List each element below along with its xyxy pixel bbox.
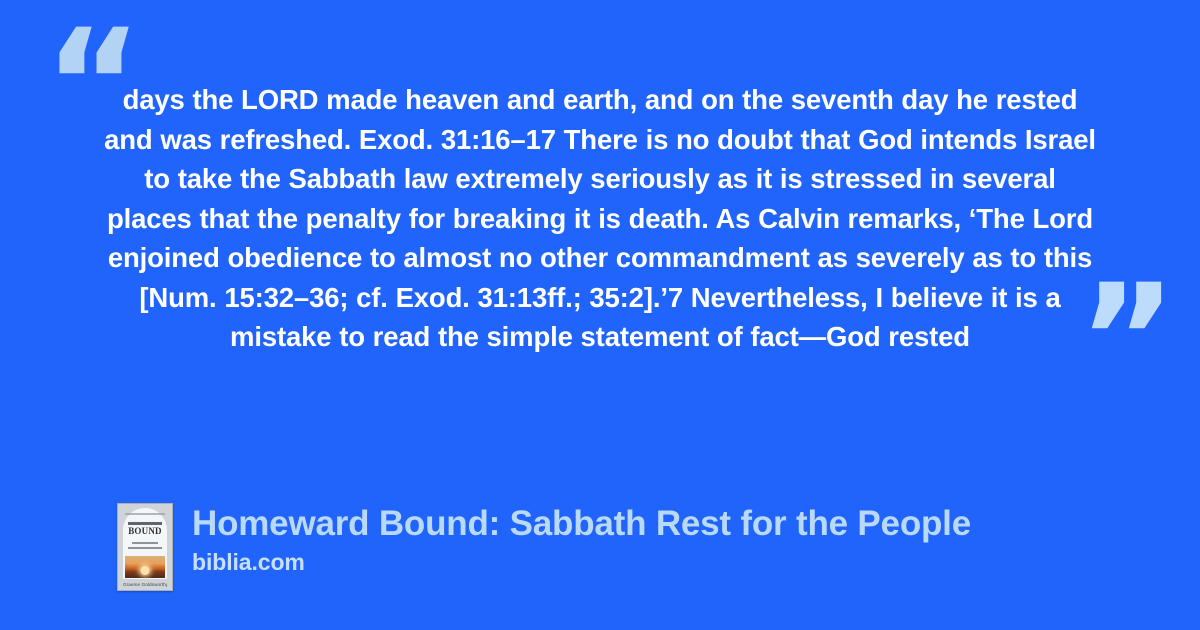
cover-top-rule (125, 513, 165, 515)
site-name[interactable]: biblia.com (192, 547, 971, 577)
footer-text-group: Homeward Bound: Sabbath Rest for the Peo… (192, 503, 971, 577)
cover-subtitle-rule-2 (128, 547, 162, 549)
cover-title: BOUND (124, 527, 166, 536)
quote-text: days the LORD made heaven and earth, and… (100, 80, 1100, 357)
cover-author: Graeme Goldsworthy (123, 582, 167, 587)
cover-sunset-image (125, 556, 165, 578)
book-title[interactable]: Homeward Bound: Sabbath Rest for the Peo… (192, 503, 971, 544)
book-cover-thumbnail[interactable]: BOUND Graeme Goldsworthy (117, 503, 173, 591)
cover-supertitle (128, 522, 162, 525)
footer: BOUND Graeme Goldsworthy Homeward Bound:… (117, 503, 1200, 591)
quote-card: “ days the LORD made heaven and earth, a… (0, 0, 1200, 630)
sun-icon (141, 566, 150, 575)
cover-subtitle-rule-1 (132, 542, 158, 544)
